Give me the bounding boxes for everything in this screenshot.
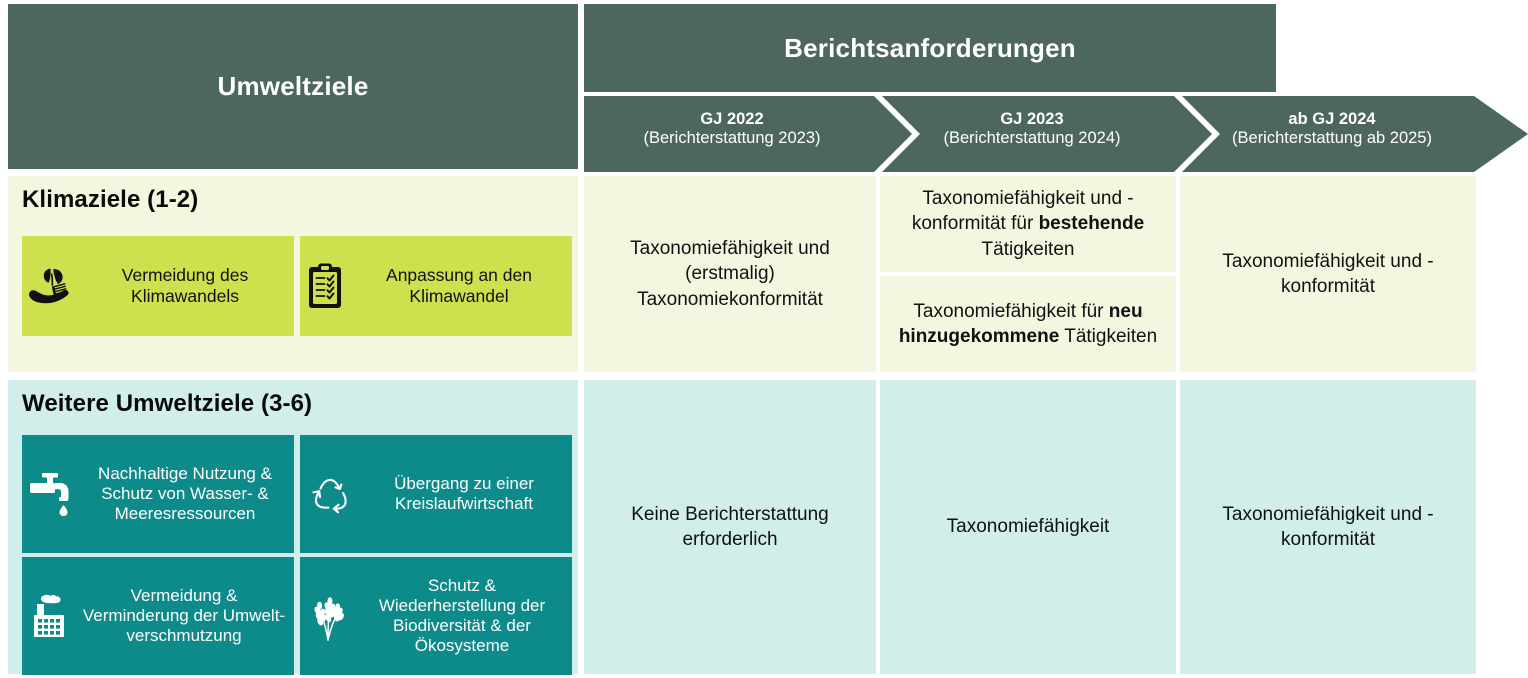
environmental-goals-header: Umweltziele [8, 4, 578, 169]
cell-other-gj2024-text: Taxonomiefähigkeit und -konformität [1190, 502, 1466, 552]
goal-label-circular-economy: Übergang zu einer Kreislaufwirtschaft [362, 474, 566, 514]
timeline-chevron-3[interactable] [1182, 96, 1528, 172]
text-post: Tätigkeiten [982, 239, 1075, 260]
cell-climate-gj2022: Taxonomiefähigkeit und (erstmalig) Taxon… [584, 176, 876, 372]
goal-label-pollution-prevention: Vermeidung & Verminderung der Umwelt-ver… [80, 586, 288, 646]
goal-tile-climate-mitigation[interactable]: Vermeidung des Klimawandels [22, 236, 294, 336]
goal-tile-water-marine[interactable]: Nachhaltige Nutzung & Schutz von Wasser-… [22, 435, 294, 553]
other-goals-panel: Weitere Umweltziele (3-6) Nachhaltige Nu… [8, 380, 578, 674]
reporting-requirements-header-label: Berichtsanforderungen [784, 33, 1076, 64]
climate-goals-panel: Klimaziele (1-2) [8, 176, 578, 372]
timeline-chevron-2[interactable] [882, 96, 1212, 172]
cell-other-gj2023-text: Taxonomiefähigkeit [947, 514, 1110, 539]
cell-climate-gj2023-existing: Taxonomiefähigkeit und -konformität für … [880, 176, 1176, 272]
text-pre: Taxonomiefähigkeit für [913, 301, 1108, 322]
goal-label-water-marine: Nachhaltige Nutzung & Schutz von Wasser-… [82, 464, 288, 524]
reporting-requirements-header: Berichtsanforderungen [584, 4, 1276, 92]
timeline-chevron-shapes [584, 96, 1528, 172]
cell-climate-gj2023-new-text: Taxonomiefähigkeit für neu hinzugekommen… [890, 299, 1166, 349]
text-bold: bestehende [1039, 213, 1145, 234]
goal-label-climate-adaptation: Anpassung an den Klimawandel [352, 265, 566, 306]
cell-climate-gj2023-new: Taxonomiefähigkeit für neu hinzugekommen… [880, 276, 1176, 372]
climate-goals-title: Klimaziele (1-2) [22, 186, 198, 214]
faucet-drop-icon [28, 469, 74, 519]
goal-tile-pollution-prevention[interactable]: Vermeidung & Verminderung der Umwelt-ver… [22, 557, 294, 675]
taxonomy-reporting-diagram: Umweltziele Berichtsanforderungen GJ 202… [0, 0, 1528, 678]
cell-other-gj2024: Taxonomiefähigkeit und -konformität [1180, 380, 1476, 674]
text-post: Tätigkeiten [1059, 326, 1157, 347]
goal-label-climate-mitigation: Vermeidung des Klimawandels [82, 265, 288, 306]
cell-climate-gj2022-text: Taxonomiefähigkeit und (erstmalig) Taxon… [594, 236, 866, 311]
cell-climate-gj2023-existing-text: Taxonomiefähigkeit und -konformität für … [890, 186, 1166, 261]
cell-other-gj2022-text: Keine Berichterstattung erforderlich [594, 502, 866, 552]
goal-tile-climate-adaptation[interactable]: Anpassung an den Klimawandel [300, 236, 572, 336]
factory-icon [28, 591, 72, 641]
goal-tile-circular-economy[interactable]: Übergang zu einer Kreislaufwirtschaft [300, 435, 572, 553]
cell-climate-gj2024: Taxonomiefähigkeit und -konformität [1180, 176, 1476, 372]
cell-other-gj2022: Keine Berichterstattung erforderlich [584, 380, 876, 674]
hand-leaves-icon [28, 264, 74, 308]
cell-climate-gj2024-text: Taxonomiefähigkeit und -konformität [1190, 249, 1466, 299]
other-goals-title: Weitere Umweltziele (3-6) [22, 390, 312, 418]
timeline-chevron-1[interactable] [584, 96, 912, 172]
goal-tile-biodiversity[interactable]: Schutz & Wiederherstellung der Biodivers… [300, 557, 572, 675]
environmental-goals-header-label: Umweltziele [217, 71, 368, 102]
timeline-chevron-band: GJ 2022 (Berichterstattung 2023) GJ 2023… [584, 96, 1528, 172]
clipboard-check-icon [306, 262, 344, 310]
goal-label-biodiversity: Schutz & Wiederherstellung der Biodivers… [358, 576, 566, 656]
wheat-icon [306, 590, 350, 642]
cell-other-gj2023: Taxonomiefähigkeit [880, 380, 1176, 674]
recycling-icon [306, 471, 354, 517]
